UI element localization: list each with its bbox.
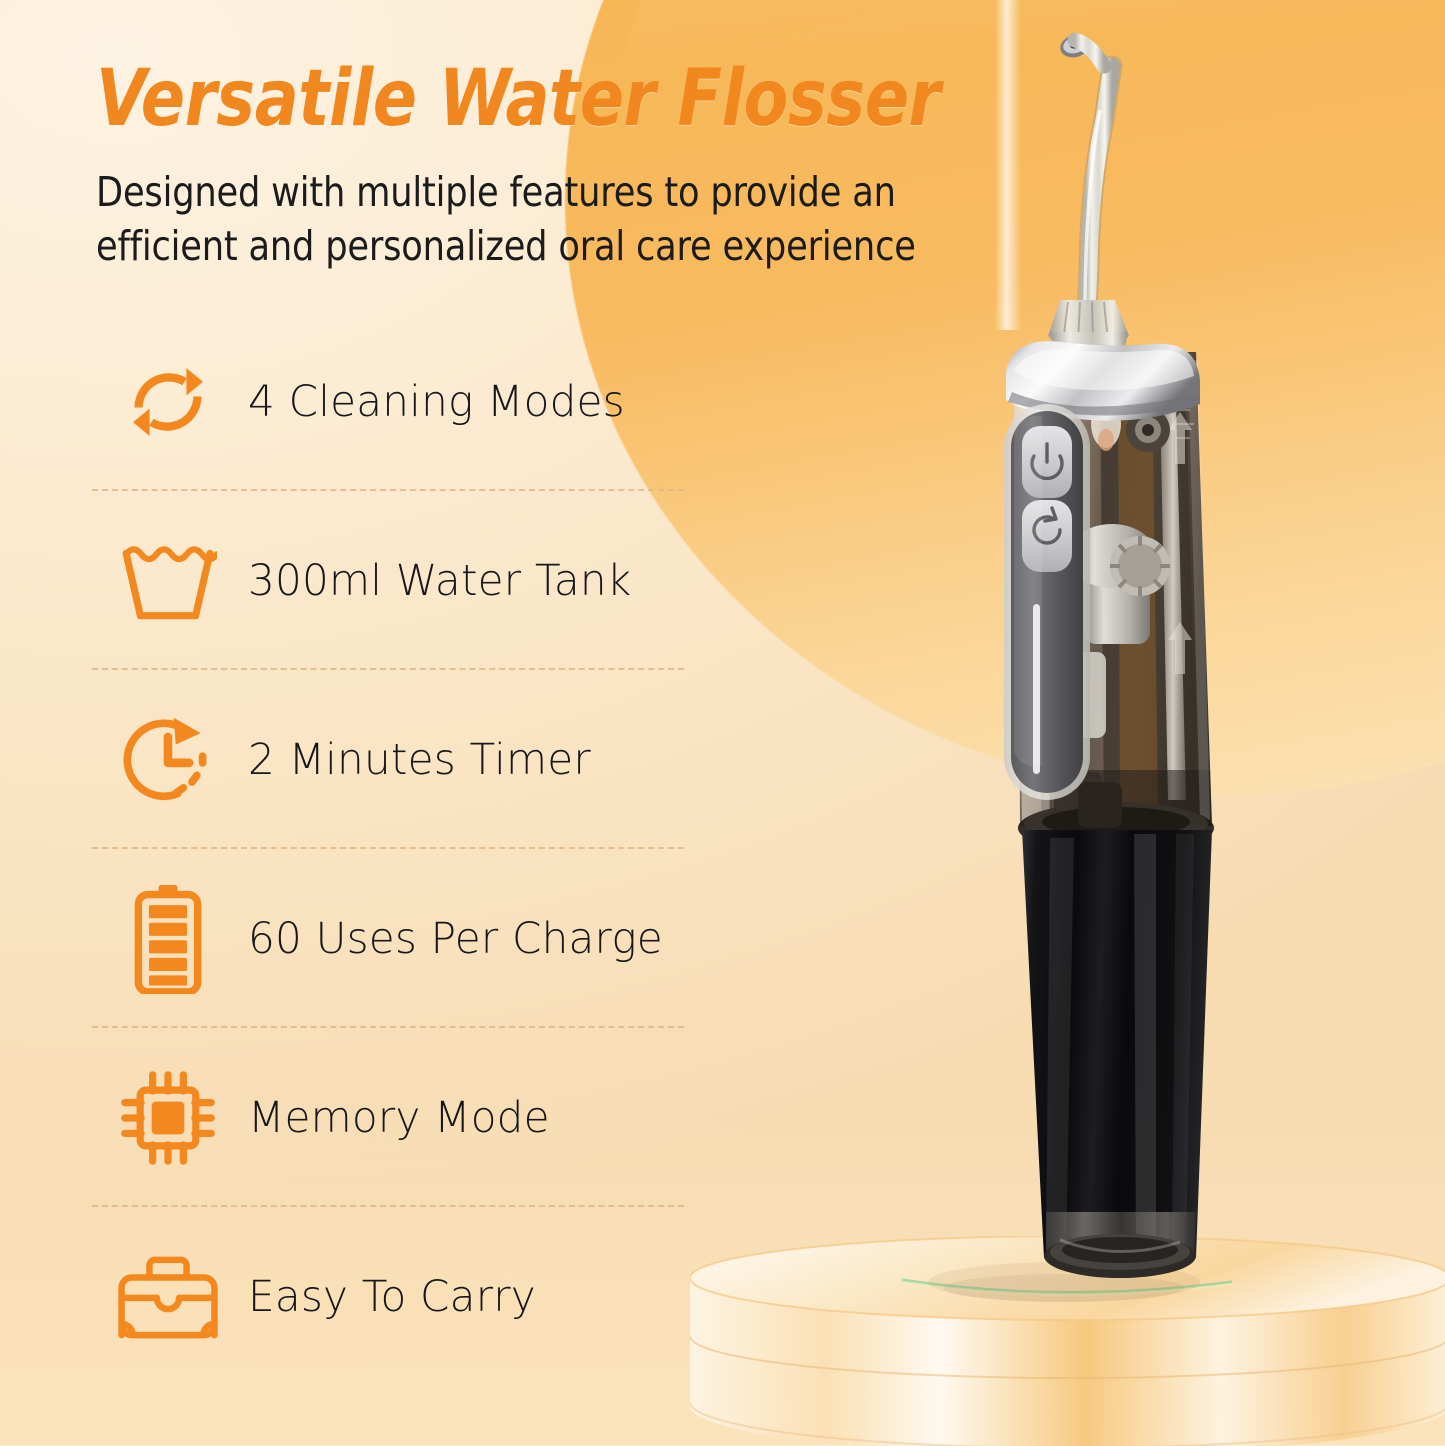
- feature-label: Easy To Carry: [248, 1272, 536, 1322]
- product-pedestal: [690, 1236, 1445, 1446]
- feature-label: 2 Minutes Timer: [248, 735, 591, 785]
- feature-label: 60 Uses Per Charge: [248, 914, 663, 964]
- feature-item: 300ml Water Tank: [88, 491, 688, 670]
- page-subtitle: Designed with multiple features to provi…: [96, 165, 1013, 274]
- battery-icon: [88, 884, 248, 994]
- page-title: Versatile Water Flosser: [96, 58, 989, 141]
- page-subtitle-line2: efficient and personalized oral care exp…: [96, 219, 1013, 274]
- refresh-cycle-icon: [88, 356, 248, 448]
- page-subtitle-line1: Designed with multiple features to provi…: [96, 165, 1013, 220]
- feature-item: 60 Uses Per Charge: [88, 849, 688, 1028]
- water-tank-icon: [88, 539, 248, 623]
- feature-label: Memory Mode: [248, 1093, 550, 1143]
- feature-item: Easy To Carry: [88, 1207, 688, 1386]
- feature-label: 4 Cleaning Modes: [248, 377, 625, 427]
- header: Versatile Water Flosser Designed with mu…: [96, 58, 1056, 274]
- timer-clock-icon: [88, 712, 248, 808]
- feature-list: 4 Cleaning Modes 300ml Water Tank: [88, 312, 688, 1386]
- chip-memory-icon: [88, 1070, 248, 1166]
- feature-item: Memory Mode: [88, 1028, 688, 1207]
- briefcase-icon: [88, 1253, 248, 1341]
- feature-item: 2 Minutes Timer: [88, 670, 688, 849]
- feature-item: 4 Cleaning Modes: [88, 312, 688, 491]
- feature-label: 300ml Water Tank: [248, 556, 631, 606]
